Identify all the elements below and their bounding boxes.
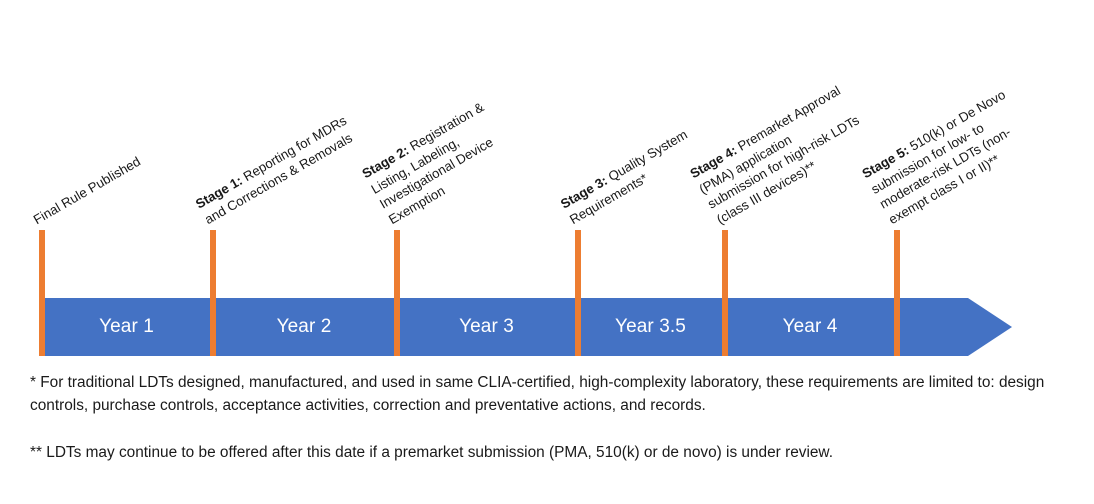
timeline-tick-6 [894, 230, 900, 356]
timeline-tick-3 [394, 230, 400, 356]
footnote-double-asterisk: ** LDTs may continue to be offered after… [30, 441, 1074, 464]
milestone-label-2: Stage 1: Reporting for MDRsand Correctio… [193, 112, 359, 228]
milestone-2-line-1: Stage 1: Reporting for MDRs [193, 112, 350, 213]
footnote-single-asterisk: * For traditional LDTs designed, manufac… [30, 371, 1074, 417]
year-label-5: Year 4 [728, 298, 892, 356]
year-label-2: Year 2 [216, 298, 392, 356]
milestone-label-1: Final Rule Published [30, 152, 144, 228]
timeline-tick-4 [575, 230, 581, 356]
timeline-diagram: Final Rule PublishedStage 1: Reporting f… [0, 0, 1094, 504]
milestone-label-3: Stage 2: Registration &Listing, Labeling… [359, 98, 513, 228]
milestone-label-6: Stage 5: 510(k) or De Novosubmission for… [859, 86, 1035, 228]
year-label-4: Year 3.5 [581, 298, 720, 356]
timeline-tick-1 [39, 230, 45, 356]
timeline-tick-5 [722, 230, 728, 356]
timeline-tick-2 [210, 230, 216, 356]
year-label-1: Year 1 [45, 298, 208, 356]
year-label-3: Year 3 [400, 298, 573, 356]
milestone-label-5: Stage 4: Premarket Approval(PMA) applica… [687, 81, 871, 228]
milestone-1-line-1: Final Rule Published [30, 152, 144, 228]
milestone-label-4: Stage 3: Quality SystemRequirements* [558, 126, 700, 228]
